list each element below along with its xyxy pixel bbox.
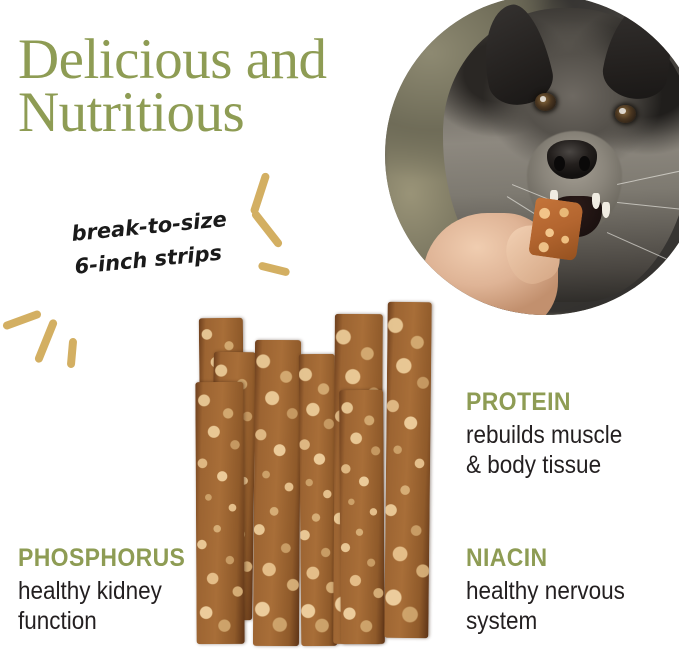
dog-ear-right (599, 0, 679, 104)
treat-strip (253, 340, 301, 646)
dog-photo (385, 0, 679, 315)
benefit-phosphorus-title: PHOSPHORUS (18, 544, 216, 572)
dog-whisker-3 (617, 170, 679, 186)
dog-whisker-5 (607, 232, 667, 259)
benefit-phosphorus: PHOSPHORUS healthy kidney function (18, 544, 233, 636)
benefit-phosphorus-description: healthy kidney function (18, 576, 212, 636)
dog-eye-left (535, 93, 556, 111)
benefit-niacin: NIACIN healthy nervous system (466, 544, 679, 636)
decorative-dash-6 (67, 338, 78, 369)
page-title: Delicious and Nutritious (18, 33, 398, 139)
dog-tooth-3 (602, 202, 610, 218)
handwritten-note: break-to-size 6-inch strips (70, 197, 295, 284)
benefit-protein: PROTEIN rebuilds muscle & body tissue (466, 388, 676, 480)
treat-strip (299, 354, 338, 646)
benefit-niacin-description: healthy nervous system (466, 576, 660, 636)
dog-whisker-4 (617, 202, 679, 211)
benefit-protein-description: rebuilds muscle & body tissue (466, 420, 655, 480)
dog-eye-right (615, 105, 636, 123)
treat-in-hand (528, 197, 584, 261)
benefit-protein-title: PROTEIN (466, 388, 659, 416)
product-infographic: Delicious and Nutritious break-to-size 6… (0, 0, 679, 651)
benefit-niacin-title: NIACIN (466, 544, 664, 572)
treat-strip (339, 390, 385, 644)
decorative-dash-4 (2, 309, 42, 330)
decorative-dash-5 (34, 318, 59, 364)
treat-strip (384, 302, 432, 638)
